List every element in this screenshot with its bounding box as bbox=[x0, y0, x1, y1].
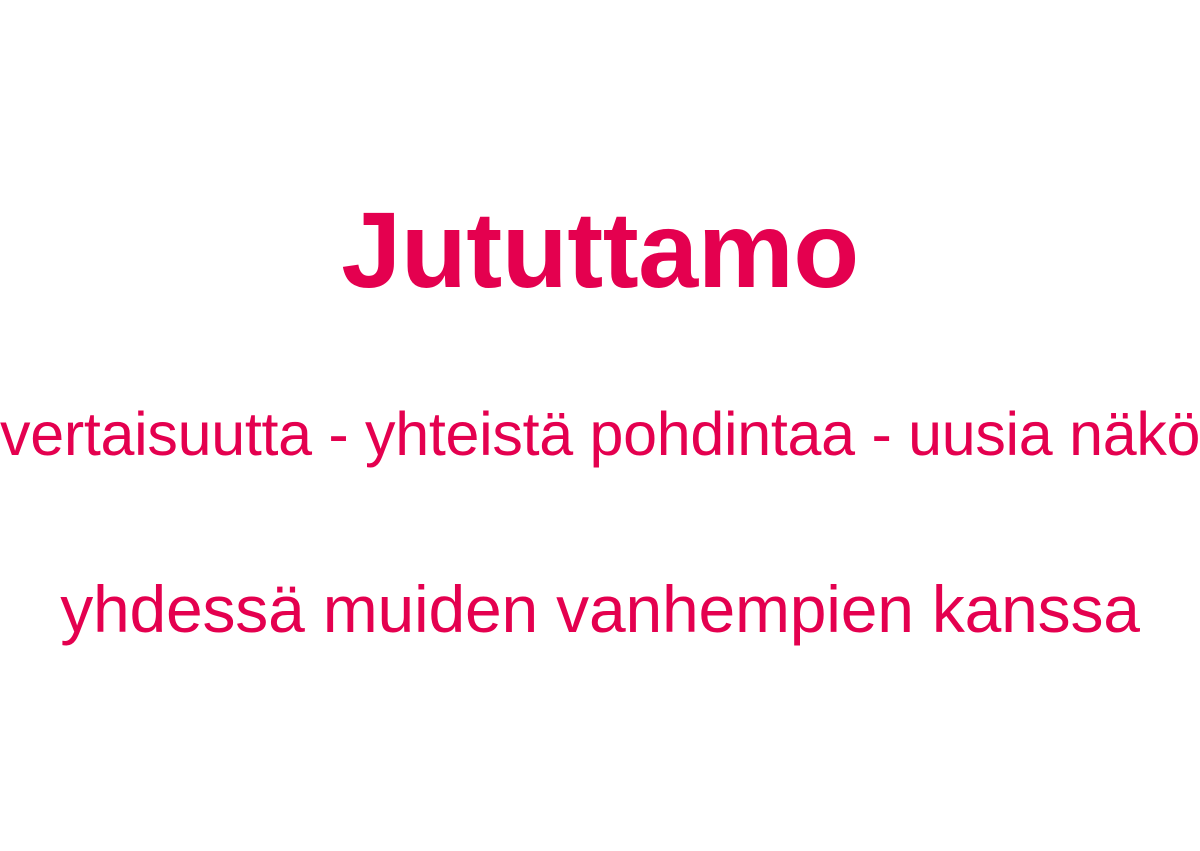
subtitle-line-two: yhdessä muiden vanhempien kanssa bbox=[0, 576, 1200, 642]
subtitle-line-one: vertaisuutta - yhteistä pohdintaa - uusi… bbox=[0, 404, 1200, 465]
page-title: Jututtamo bbox=[0, 196, 1200, 304]
slide-canvas: Jututtamo vertaisuutta - yhteistä pohdin… bbox=[0, 0, 1200, 851]
